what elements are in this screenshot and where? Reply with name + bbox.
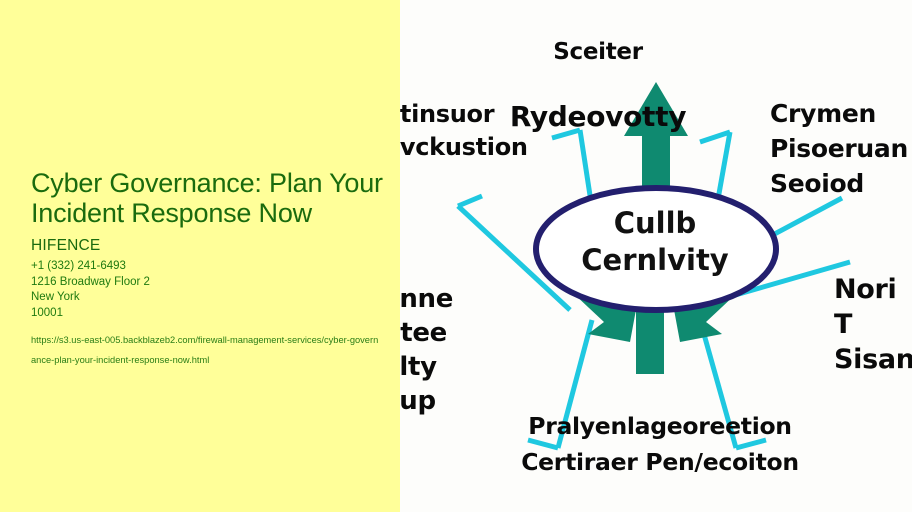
diagram-label-top-line1: Sceiter bbox=[448, 36, 748, 68]
diagram-label-bottom: Pralyenlageoreetion Certiraer Pen/ecoito… bbox=[470, 408, 850, 480]
spoke-cap-upper-left bbox=[458, 196, 482, 206]
brand-name: HIFENCE bbox=[31, 237, 383, 254]
contact-address-city: New York bbox=[31, 290, 383, 306]
page-title: Cyber Governance: Plan Your Incident Res… bbox=[31, 168, 383, 228]
diagram-label-lower-right: Nori T Sisan bbox=[834, 272, 912, 377]
source-url-link[interactable]: https://s3.us-east-005.backblazeb2.com/f… bbox=[31, 330, 383, 370]
diagram-label-upper-right: Crymen Pisoeruan Seoiod bbox=[770, 96, 912, 201]
page-root: Cyber Governance: Plan Your Incident Res… bbox=[0, 0, 912, 512]
center-label: Cullb Cernlvity bbox=[535, 205, 775, 279]
contact-address-street: 1216 Broadway Floor 2 bbox=[31, 275, 383, 291]
diagram-label-lower-left: enne ntee elty aup bbox=[400, 282, 512, 418]
info-panel-content: Cyber Governance: Plan Your Incident Res… bbox=[31, 168, 383, 370]
contact-address-zip: 10001 bbox=[31, 306, 383, 322]
contact-phone: +1 (332) 241-6493 bbox=[31, 259, 383, 275]
info-panel: Cyber Governance: Plan Your Incident Res… bbox=[0, 0, 400, 512]
diagram-panel: Cullb Cernlvity Sceiter Rydeovotty atins… bbox=[400, 0, 912, 512]
diagram-label-upper-left: atinsuor avckustion bbox=[400, 98, 574, 164]
